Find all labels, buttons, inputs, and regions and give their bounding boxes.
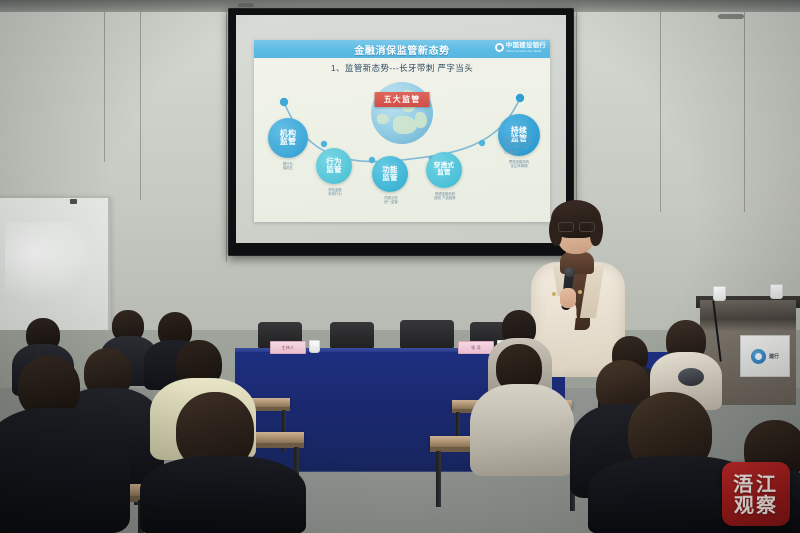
wall-seam	[744, 12, 745, 212]
node-chuantou: 穿透式 监管	[426, 152, 462, 188]
node-xingwei: 行为 监管	[316, 148, 352, 184]
wall-seam	[576, 12, 577, 212]
paper-cup	[713, 286, 726, 301]
slide-title: 金融消保监管新态势	[354, 42, 449, 57]
watermark-line-1: 浯江	[733, 474, 779, 494]
wall-seam	[140, 12, 141, 200]
ccb-bank-logo: 中国建设银行 China Construction Bank	[495, 43, 546, 53]
wall-seam	[660, 12, 661, 212]
node-jigou: 机构 监管	[268, 118, 308, 158]
slide-subtitle: 1、监管新态势---长牙带刺 严字当头	[254, 62, 550, 74]
paper-cup	[309, 340, 320, 353]
ceiling-vent	[238, 3, 254, 7]
name-card-label: 主持人	[282, 345, 295, 351]
projection-screen-frame: 金融消保监管新态势 中国建设银行 China Construction Bank…	[228, 8, 574, 256]
glasses-icon	[558, 222, 595, 230]
presentation-slide: 金融消保监管新态势 中国建设银行 China Construction Bank…	[254, 40, 550, 222]
node-caption-chixu: 贯穿金融机构全生命周期	[494, 160, 544, 169]
attendee-body	[470, 384, 574, 476]
attendee-body	[140, 456, 306, 533]
wall-panel-right	[574, 12, 800, 192]
head-table-chair	[400, 320, 454, 350]
whiteboard-clip-icon	[70, 199, 77, 204]
wall-seam	[104, 12, 105, 162]
projection-screen-surface: 金融消保监管新态势 中国建设银行 China Construction Bank…	[236, 15, 566, 243]
slide-header-bar: 金融消保监管新态势 中国建设银行 China Construction Bank	[254, 40, 550, 58]
node-label-bottom: 监管	[437, 170, 451, 177]
desk-leg	[436, 451, 441, 507]
node-caption-gongneng: 同类业务统一监管	[366, 196, 416, 205]
watermark-badge: 浯江 观察	[722, 462, 790, 526]
node-label-bottom: 监管	[280, 138, 297, 146]
wall-seam	[226, 12, 227, 262]
bank-emblem-icon	[751, 349, 766, 364]
name-card-label: 领 导	[471, 345, 481, 351]
podium-sign-label: 建行	[769, 353, 779, 360]
name-card: 领 导	[458, 341, 494, 354]
ccb-name-en: China Construction Bank	[506, 50, 546, 53]
podium-sign: 建行	[740, 335, 790, 377]
attendee-body	[0, 408, 130, 533]
whiteboard	[0, 196, 111, 336]
node-caption-jigou: 银行业保险业	[266, 162, 310, 171]
slide-side-note: 贯穿金融机构从设立到退出全过程，实现事前、事中、事后全流程监管	[504, 136, 550, 154]
paper-cup	[770, 284, 783, 299]
eyeglasses-on-head-icon	[678, 368, 704, 386]
screenshot-root: 金融消保监管新态势 中国建设银行 China Construction Bank…	[0, 0, 800, 533]
center-banner: 五大监管	[375, 92, 430, 107]
name-card: 主持人	[270, 341, 306, 354]
node-caption-xingwei: 规范金融机构行为	[310, 188, 360, 197]
ccb-emblem-icon	[495, 43, 504, 52]
wall-panel-left	[0, 12, 228, 192]
node-caption-chuantou: 穿透金融机构股权 产品链条	[416, 192, 474, 201]
watermark-line-2: 观察	[734, 495, 778, 515]
head-table-chair	[330, 322, 374, 350]
node-label-bottom: 监管	[382, 174, 398, 182]
lapel-pin-icon	[578, 290, 582, 294]
node-gongneng: 功能 监管	[372, 156, 408, 192]
speaker-hand	[560, 288, 576, 308]
lapel-pin-icon	[552, 292, 556, 296]
node-label-bottom: 监管	[326, 166, 342, 174]
ceiling-vent	[718, 14, 744, 19]
